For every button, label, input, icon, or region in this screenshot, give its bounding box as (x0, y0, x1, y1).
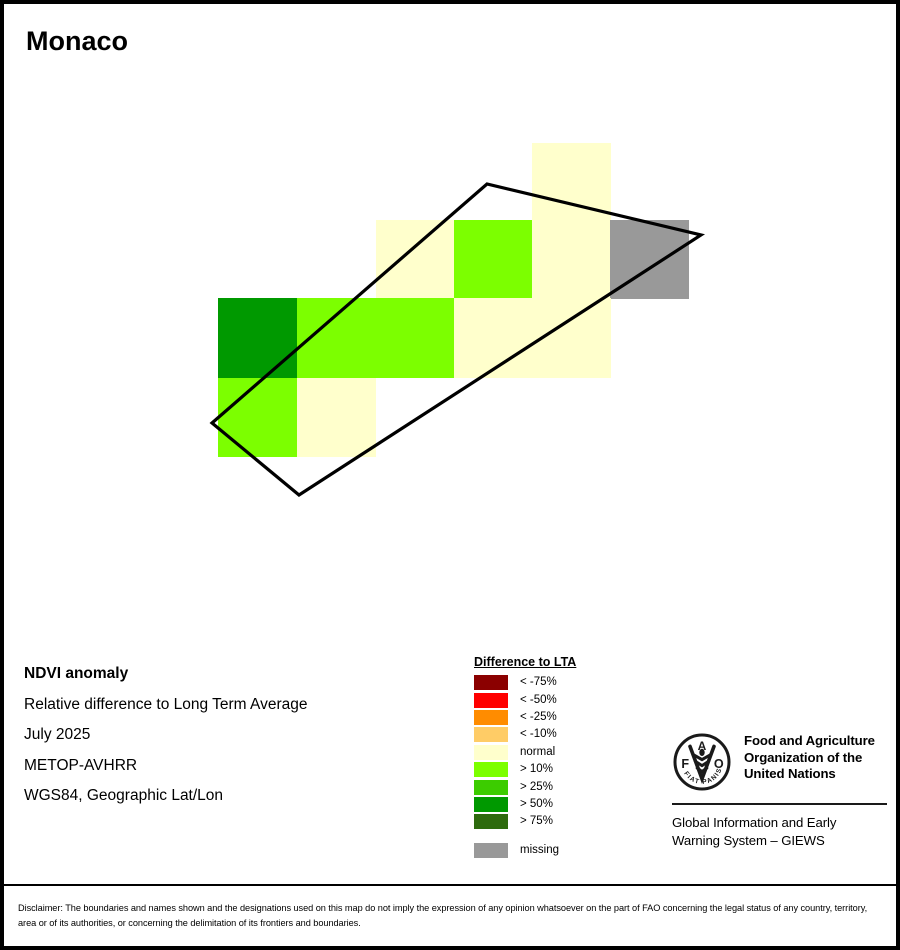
legend-lt-75-label: < -75% (520, 676, 557, 689)
legend-gt-75: > 75% (474, 813, 649, 830)
fao-logo-letter-f: F (681, 757, 689, 771)
map-page: Monaco NDVI anomalyRelative difference t… (0, 0, 900, 950)
legend-gt-75-swatch (474, 814, 508, 829)
disclaimer-text: Disclaimer: The boundaries and names sho… (18, 901, 884, 930)
legend-normal-label: normal (520, 746, 555, 759)
legend-normal: normal (474, 744, 649, 761)
fao-programme-name: Global Information and EarlyWarning Syst… (672, 814, 887, 849)
legend-gt-10: > 10% (474, 761, 649, 778)
legend-lt-75: < -75% (474, 674, 649, 691)
legend-title: Difference to LTA (474, 655, 649, 669)
legend-gt-75-label: > 75% (520, 815, 553, 828)
legend-lt-10-label: < -10% (520, 728, 557, 741)
info-line-0: NDVI anomaly (24, 659, 444, 690)
legend-gt-50-swatch (474, 797, 508, 812)
legend-normal-swatch (474, 745, 508, 760)
legend-lt-75-swatch (474, 675, 508, 690)
legend-gt-25-label: > 25% (520, 781, 553, 794)
legend-gt-10-label: > 10% (520, 763, 553, 776)
fao-logo-icon: A F O FIAT PANIS (672, 732, 732, 792)
fao-programme-line-0: Global Information and Early (672, 814, 887, 832)
info-line-1: Relative difference to Long Term Average (24, 690, 444, 721)
fao-programme-line-1: Warning System – GIEWS (672, 832, 887, 850)
fao-organization-name: Food and AgricultureOrganization of theU… (744, 733, 875, 783)
fao-organization-line-1: Organization of the (744, 750, 875, 767)
legend-lt-10: < -10% (474, 726, 649, 743)
legend-gt-50: > 50% (474, 796, 649, 813)
info-line-2: July 2025 (24, 720, 444, 751)
info-line-3: METOP-AVHRR (24, 751, 444, 782)
info-line-4: WGS84, Geographic Lat/Lon (24, 781, 444, 812)
legend-gt-25: > 25% (474, 778, 649, 795)
legend-missing-swatch (474, 843, 508, 858)
country-boundary-layer (4, 4, 896, 624)
legend-entry-list: < -75%< -50%< -25%< -10%normal> 10%> 25%… (474, 674, 649, 859)
legend-lt-50-swatch (474, 693, 508, 708)
legend-missing-label: missing (520, 844, 559, 857)
map-info-block: NDVI anomalyRelative difference to Long … (24, 659, 444, 812)
legend-gt-50-label: > 50% (520, 798, 553, 811)
fao-divider (672, 803, 887, 805)
legend-lt-25: < -25% (474, 709, 649, 726)
legend-lt-50: < -50% (474, 691, 649, 708)
country-boundary-outline (212, 184, 701, 495)
fao-organization-line-2: United Nations (744, 766, 875, 783)
legend-missing: missing (474, 842, 649, 859)
fao-logo-letter-a: A (698, 739, 707, 753)
legend-gt-25-swatch (474, 780, 508, 795)
map-canvas[interactable] (4, 4, 896, 624)
fao-branding-block: A F O FIAT PANIS Food and AgricultureOrg… (672, 732, 887, 849)
map-legend: Difference to LTA < -75%< -50%< -25%< -1… (474, 655, 649, 859)
disclaimer-divider (4, 884, 896, 886)
legend-lt-50-label: < -50% (520, 694, 557, 707)
legend-lt-25-swatch (474, 710, 508, 725)
legend-lt-10-swatch (474, 727, 508, 742)
fao-organization-line-0: Food and Agriculture (744, 733, 875, 750)
legend-lt-25-label: < -25% (520, 711, 557, 724)
legend-gt-10-swatch (474, 762, 508, 777)
